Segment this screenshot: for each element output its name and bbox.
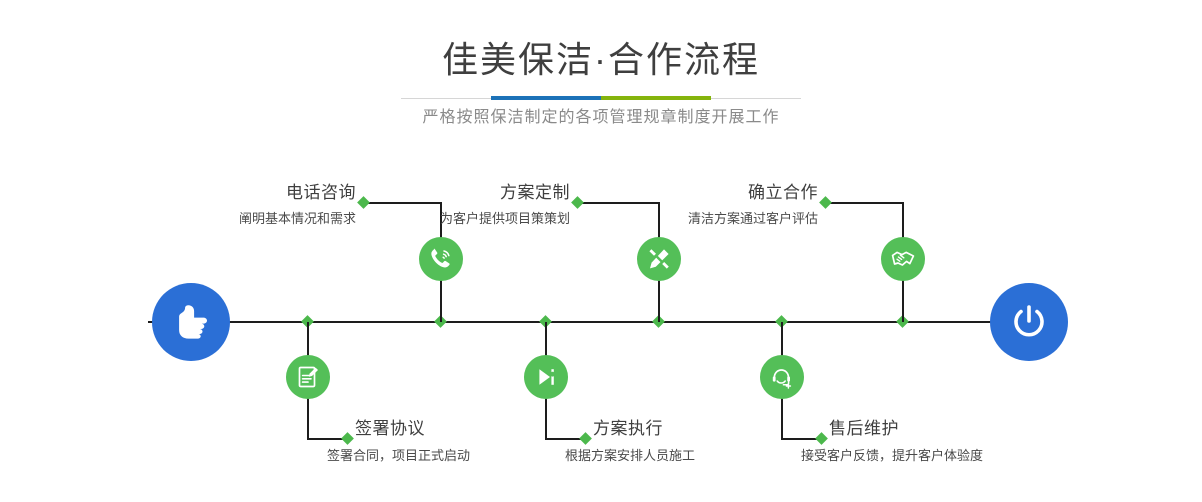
step-desc-1: 阐明基本情况和需求 [144,210,356,228]
document-pen-icon [295,364,321,390]
header: 佳美保洁·合作流程 严格按照保洁制定的各项管理规章制度开展工作 [0,0,1202,150]
step-title-2: 签署协议 [355,419,425,439]
timeline: 电话咨询 阐明基本情况和需求 签署协议 [0,150,1202,502]
branch-diamond-5 [819,196,832,209]
step-node-5[interactable] [881,237,925,281]
branch-hline-5 [826,202,904,204]
branch-diamond-2 [341,432,354,445]
timeline-axis [148,321,1054,323]
play-execute-icon [533,364,559,390]
branch-diamond-6 [815,432,828,445]
step-title-6: 售后维护 [829,419,899,439]
step-desc-2: 签署合同，项目正式启动 [327,447,470,465]
step-title-3: 方案定制 [358,183,570,203]
step-title-5: 确立合作 [606,183,818,203]
power-icon [1008,301,1050,343]
phone-call-icon [428,246,454,272]
pointing-hand-icon [168,302,214,342]
start-node-pointing-hand[interactable] [152,283,230,361]
pencil-ruler-icon [646,246,672,272]
step-title-4: 方案执行 [593,419,663,439]
page-subtitle: 严格按照保洁制定的各项管理规章制度开展工作 [0,106,1202,130]
branch-diamond-4 [579,432,592,445]
end-node-power[interactable] [990,283,1068,361]
divider-green-segment [601,96,711,100]
step-desc-4: 根据方案安排人员施工 [565,447,695,465]
step-desc-5: 清洁方案通过客户评估 [606,210,818,228]
step-desc-3: 为客户提供项目策策划 [358,210,570,228]
step-desc-6: 接受客户反馈，提升客户体验度 [801,447,983,465]
process-flow-infographic: 佳美保洁·合作流程 严格按照保洁制定的各项管理规章制度开展工作 [0,0,1202,502]
step-node-4[interactable] [524,355,568,399]
step-node-1[interactable] [419,237,463,281]
handshake-icon [890,246,916,272]
page-title: 佳美保洁·合作流程 [0,38,1202,82]
divider-blue-segment [491,96,601,100]
step-node-6[interactable] [760,355,804,399]
step-title-1: 电话咨询 [144,183,356,203]
step-node-3[interactable] [637,237,681,281]
branch-diamond-3 [571,196,584,209]
title-divider [401,96,801,101]
headset-support-icon [769,364,795,390]
step-node-2[interactable] [286,355,330,399]
